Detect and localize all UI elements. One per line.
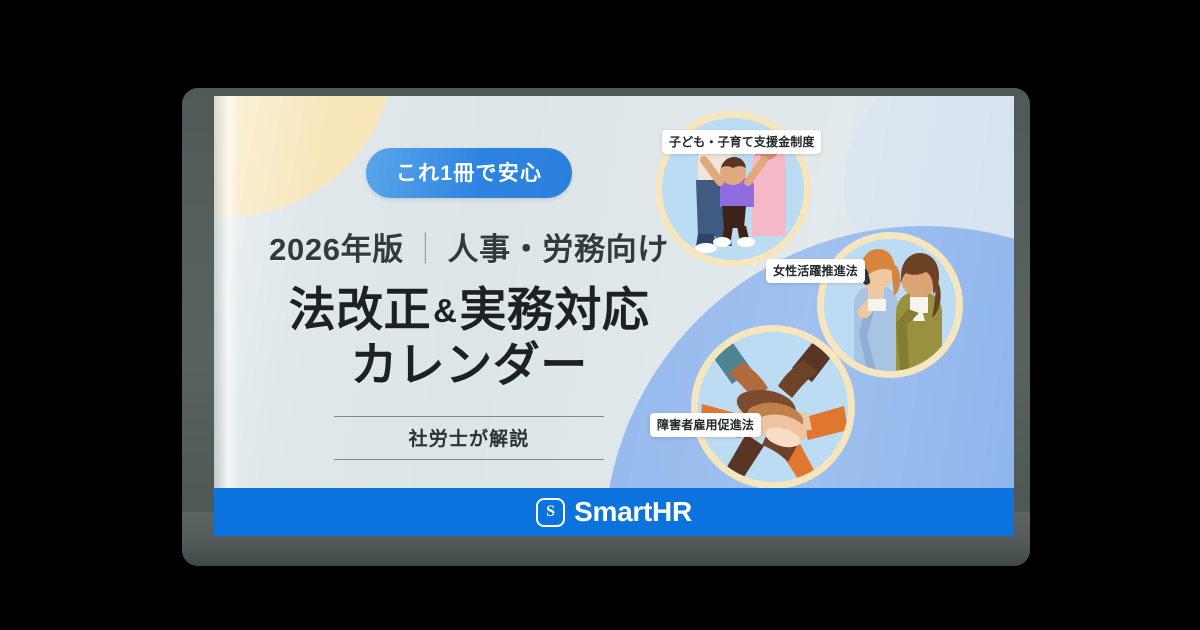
cover-text-column: これ1冊で安心 2026年版｜人事・労務向け 法改正&実務対応 カレンダー 社労… <box>234 96 704 486</box>
book-cover: これ1冊で安心 2026年版｜人事・労務向け 法改正&実務対応 カレンダー 社労… <box>214 96 1014 536</box>
poster-canvas: これ1冊で安心 2026年版｜人事・労務向け 法改正&実務対応 カレンダー 社労… <box>0 0 1200 630</box>
illustration-tag-women-advancement: 女性活躍推進法 <box>766 259 865 283</box>
title-ampersand: & <box>431 292 459 329</box>
reassurance-badge: これ1冊で安心 <box>366 148 573 198</box>
cover-subtitle: 2026年版｜人事・労務向け <box>269 224 669 269</box>
illustration-tag-disability-employment: 障害者雇用促進法 <box>650 413 761 437</box>
page-title: 法改正&実務対応 カレンダー <box>289 283 650 392</box>
reassurance-badge-label: これ1冊で安心 <box>396 157 543 187</box>
illustration-disability-employment <box>698 332 848 482</box>
subtitle-separator: ｜ <box>404 232 448 267</box>
brand-footer: S SmartHR <box>214 488 1014 536</box>
byline-rule-bottom <box>334 459 604 460</box>
diverse-hands-together-illustration <box>698 332 848 482</box>
title-part-practical-response: 実務対応 <box>459 283 649 336</box>
title-part-law-revision: 法改正 <box>289 283 431 336</box>
byline-block: 社労士が解説 <box>334 416 604 460</box>
smarthr-logo-icon: S <box>536 498 565 527</box>
title-line-1: 法改正&実務対応 <box>289 283 650 338</box>
audience-label: 人事・労務向け <box>447 232 668 267</box>
illustration-tag-childcare: 子ども・子育て支援金制度 <box>662 130 821 154</box>
byline-text: 社労士が解説 <box>334 417 604 459</box>
title-line-2: カレンダー <box>289 338 650 393</box>
brand-name: SmartHR <box>574 496 692 528</box>
year-label: 2026年版 <box>269 232 404 267</box>
